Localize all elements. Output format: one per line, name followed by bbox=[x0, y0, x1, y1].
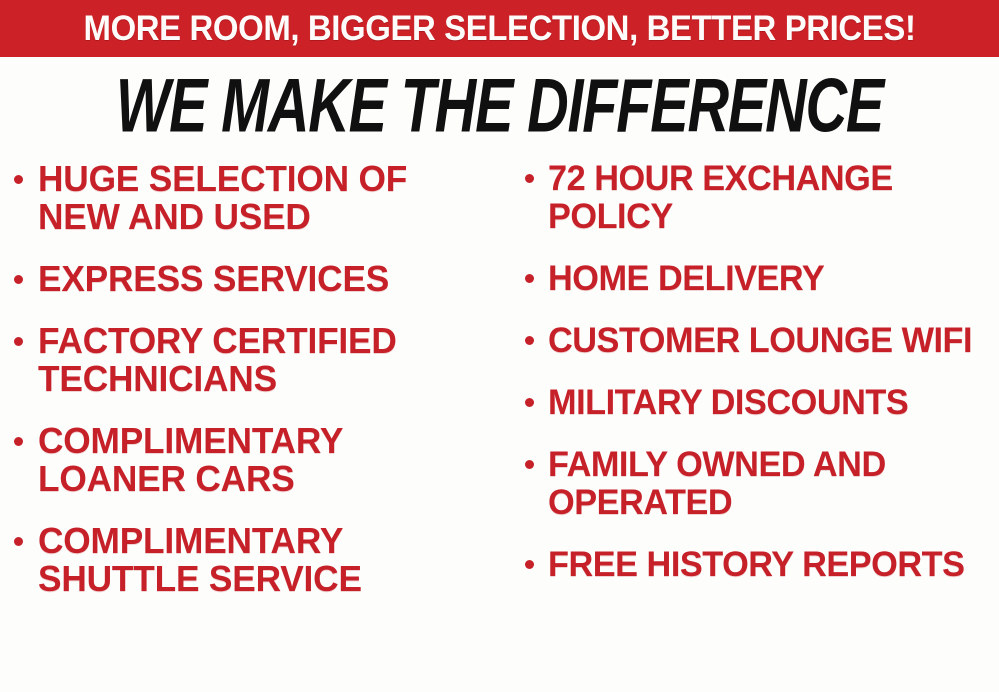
features-column-left: HUGE SELECTION OF NEW AND USED EXPRESS S… bbox=[0, 160, 505, 622]
list-item: FAMILY OWNED AND OPERATED bbox=[525, 446, 997, 522]
headline-container: WE MAKE THE DIFFERENCE bbox=[0, 62, 999, 150]
list-item: FREE HISTORY REPORTS bbox=[525, 546, 997, 584]
list-item: HUGE SELECTION OF NEW AND USED bbox=[14, 160, 501, 236]
bullet-dot-icon bbox=[14, 275, 23, 284]
bullet-dot-icon bbox=[14, 175, 23, 184]
bullet-dot-icon bbox=[14, 537, 23, 546]
bullet-dot-icon bbox=[14, 437, 23, 446]
list-item: HOME DELIVERY bbox=[525, 260, 997, 298]
list-item: 72 HOUR EXCHANGE POLICY bbox=[525, 160, 997, 236]
bullet-dot-icon bbox=[525, 336, 534, 345]
list-item: MILITARY DISCOUNTS bbox=[525, 384, 997, 422]
features-columns: HUGE SELECTION OF NEW AND USED EXPRESS S… bbox=[0, 160, 999, 692]
list-item-label: COMPLIMENTARY SHUTTLE SERVICE bbox=[38, 522, 492, 598]
list-item: COMPLIMENTARY LOANER CARS bbox=[14, 422, 501, 498]
list-item-label: CUSTOMER LOUNGE WIFI bbox=[548, 322, 988, 360]
list-item-label: EXPRESS SERVICES bbox=[38, 260, 492, 298]
list-item-label: FREE HISTORY REPORTS bbox=[548, 546, 988, 584]
list-item-label: MILITARY DISCOUNTS bbox=[548, 384, 988, 422]
list-item-label: COMPLIMENTARY LOANER CARS bbox=[38, 422, 492, 498]
main-headline: WE MAKE THE DIFFERENCE bbox=[116, 68, 883, 144]
list-item-label: FAMILY OWNED AND OPERATED bbox=[548, 446, 988, 522]
top-banner: MORE ROOM, BIGGER SELECTION, BETTER PRIC… bbox=[0, 0, 999, 57]
list-item-label: FACTORY CERTIFIED TECHNICIANS bbox=[38, 322, 492, 398]
list-item: CUSTOMER LOUNGE WIFI bbox=[525, 322, 997, 360]
list-item-label: 72 HOUR EXCHANGE POLICY bbox=[548, 160, 988, 236]
list-item: COMPLIMENTARY SHUTTLE SERVICE bbox=[14, 522, 501, 598]
bullet-dot-icon bbox=[525, 398, 534, 407]
features-column-right: 72 HOUR EXCHANGE POLICY HOME DELIVERY CU… bbox=[505, 160, 999, 608]
banner-headline-text: MORE ROOM, BIGGER SELECTION, BETTER PRIC… bbox=[84, 11, 916, 46]
list-item-label: HUGE SELECTION OF NEW AND USED bbox=[38, 160, 492, 236]
bullet-dot-icon bbox=[525, 460, 534, 469]
list-item-label: HOME DELIVERY bbox=[548, 260, 988, 298]
list-item: EXPRESS SERVICES bbox=[14, 260, 501, 298]
bullet-dot-icon bbox=[14, 337, 23, 346]
bullet-dot-icon bbox=[525, 560, 534, 569]
bullet-dot-icon bbox=[525, 174, 534, 183]
bullet-dot-icon bbox=[525, 274, 534, 283]
list-item: FACTORY CERTIFIED TECHNICIANS bbox=[14, 322, 501, 398]
promotional-poster: MORE ROOM, BIGGER SELECTION, BETTER PRIC… bbox=[0, 0, 999, 692]
